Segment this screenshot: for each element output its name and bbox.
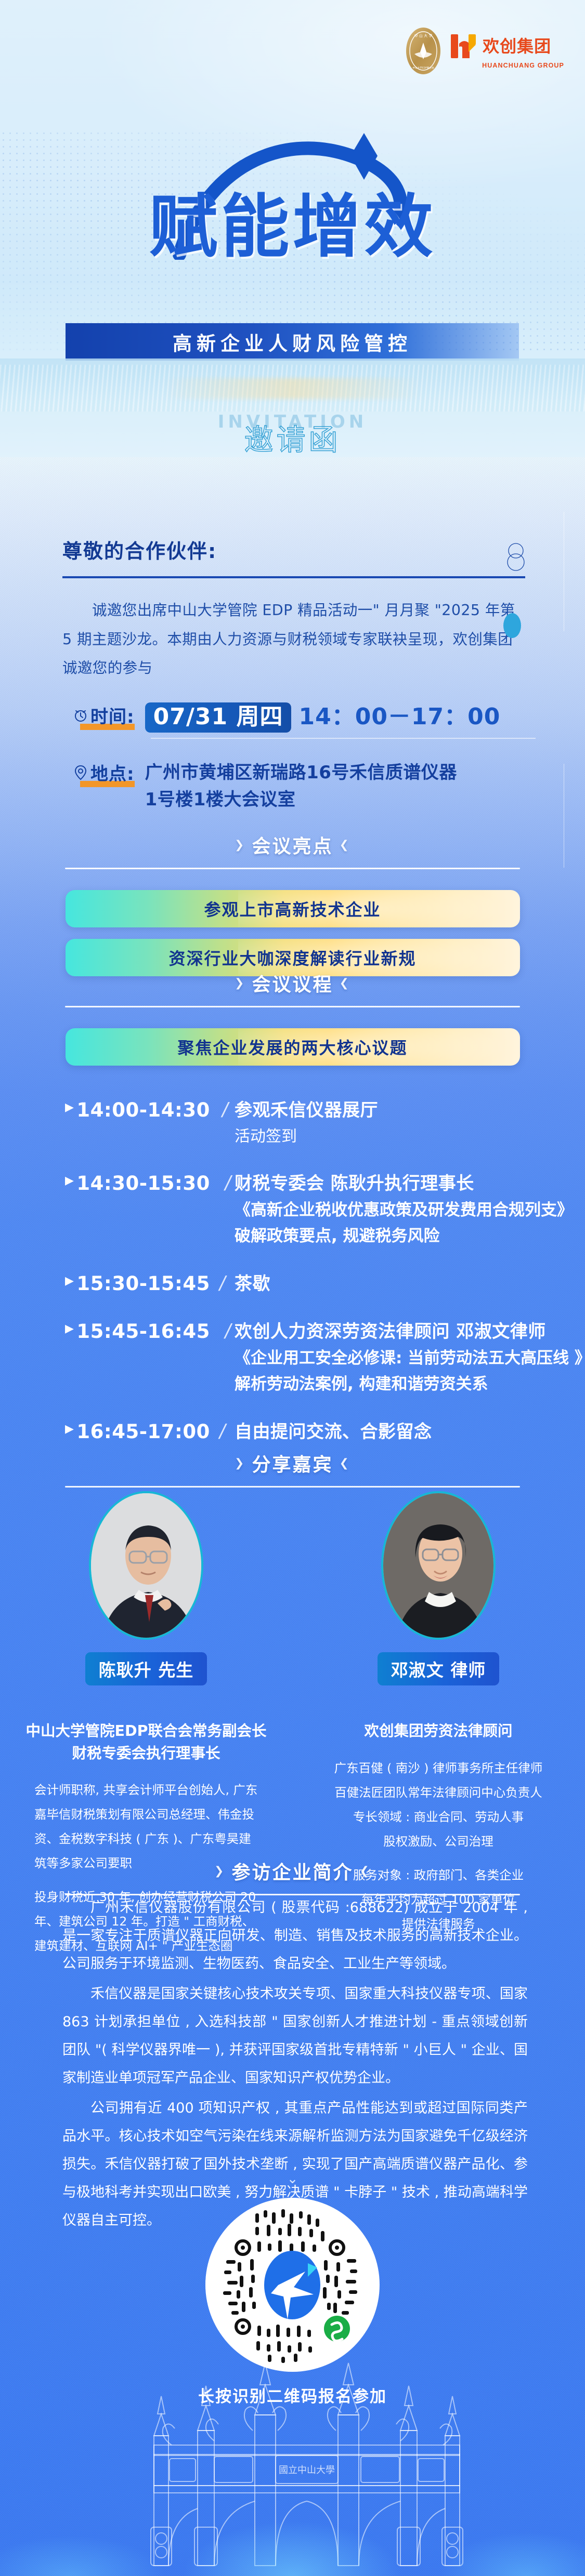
dot-decoration [503, 613, 521, 638]
gate-plaque-text: 國立中山大學 [279, 2465, 335, 2476]
triangle-right-icon: ▶ [65, 1320, 74, 1338]
agenda-row: ▶ 15:45-16:45 / 欢创人力资深劳资法律顾问 邓淑文律师 《企业用工… [65, 1320, 533, 1397]
speaker-name-badge: 邓淑文 律师 [378, 1652, 500, 1685]
greeting-block: 尊敬的合作伙伴: 诚邀您出席中山大学管院 EDP 精品活动一" 月月聚 "202… [62, 535, 525, 683]
agenda-time-text: 15:45-16:45 [76, 1320, 210, 1343]
place-line-2: 1号楼1楼大会议室 [145, 787, 457, 814]
agenda-main-text: 茶歇 [235, 1272, 270, 1296]
meta-divider [151, 738, 536, 739]
place-label: 地点: [90, 760, 135, 785]
decorative-side-line-top [564, 512, 564, 631]
highlight-item: 参观上市高新技术企业 [66, 890, 520, 927]
subtitle-text: 高新企业人财风险管控 [173, 328, 412, 356]
male-portrait-icon [91, 1493, 203, 1640]
svg-text:中 山 大 学: 中 山 大 学 [414, 33, 433, 38]
highlights-title-group: ❯ 会议亮点 ❮ [0, 831, 585, 858]
page-title: 赋能增效 [0, 171, 585, 271]
brand-name-cn: 欢创集团 [483, 38, 551, 55]
event-date-badge: 07/31 周四 [145, 702, 292, 733]
slash-separator-icon: / [217, 1420, 228, 1444]
slash-separator-icon: / [211, 1172, 233, 1249]
agenda-row: ▶ 16:45-17:00 / 自由提问交流、合影留念 [65, 1420, 533, 1444]
place-label-group: 地点: [73, 760, 135, 787]
company-paragraph: 广州禾信仪器股份有限公司 ( 股票代码 :688622) 成立于 2004 年 … [62, 1894, 528, 1978]
triangle-right-icon: ▶ [65, 1099, 74, 1117]
agenda-title: 会议议程 [252, 970, 333, 997]
company-title: 参访企业简介 [231, 1857, 353, 1884]
speaker-role: 中山大学管院EDP联合会常务副会长 财税专委会执行理事长 [25, 1698, 266, 1764]
invitation-label-cn: 邀请函 [0, 417, 585, 459]
speakers-divider [65, 1486, 520, 1488]
event-place-row: 地点: 广州市黄埔区新瑞路16号禾信质谱仪器 1号楼1楼大会议室 [73, 760, 541, 813]
agenda-time: ▶ 16:45-17:00 [65, 1420, 210, 1444]
agenda-main-text: 自由提问交流、合影留念 [235, 1420, 432, 1444]
left-arrow-icon: ❯ [235, 977, 245, 990]
huanchuang-h-mark-icon [450, 33, 479, 59]
avatar [381, 1491, 496, 1640]
speaker-bio-paragraph: 广东百健 ( 南沙 ) 律师事务所主任律师 百健法匠团队常年法律顾问中心负责人 … [327, 1756, 550, 1854]
agenda-time: ▶ 14:30-15:30 [65, 1172, 210, 1249]
agenda-content: 欢创人力资深劳资法律顾问 邓淑文律师 《企业用工安全必修课: 当前劳动法五大高压… [235, 1320, 585, 1397]
right-arrow-icon: ❮ [340, 839, 350, 852]
highlights-divider [65, 868, 520, 869]
greeting-paragraph: 诚邀您出席中山大学管院 EDP 精品活动一" 月月聚 "2025 年第 5 期主… [62, 596, 525, 683]
agenda-sub-text: 破解政策要点, 规避税务风险 [235, 1224, 573, 1249]
slash-separator-icon: / [217, 1272, 228, 1296]
agenda-sub-text: 活动签到 [235, 1125, 378, 1148]
highlight-item-label: 参观上市高新技术企业 [204, 897, 381, 921]
triangle-right-icon: ▶ [65, 1420, 74, 1438]
greeting-divider [62, 576, 525, 578]
sysu-seal-icon: 中 山 大 学 中山大学EDP联合会 [405, 27, 441, 75]
speakers-title-group: ❯ 分享嘉宾 ❮ [0, 1450, 585, 1477]
invitation-poster: 中 山 大 学 中山大学EDP联合会 欢创集团 HUANCHUANG GROUP… [0, 0, 585, 2576]
agenda-divider [65, 1006, 520, 1007]
company-section-header: ❯ 参访企业简介 ❮ [0, 1857, 585, 1895]
speakers-title: 分享嘉宾 [252, 1450, 333, 1477]
double-circle-decoration-icon [502, 542, 529, 572]
agenda-title-group: ❯ 会议议程 ❮ [0, 970, 585, 997]
highlights-section: ❯ 会议亮点 ❮ 参观上市高新技术企业 资深行业大咖深度解读行业新规 [0, 831, 585, 976]
agenda-content: 参观禾信仪器展厅 活动签到 [235, 1099, 378, 1148]
time-label: 时间: [90, 702, 135, 728]
highlight-item-label: 资深行业大咖深度解读行业新规 [168, 946, 416, 970]
event-time-range: 14：00－17：00 [298, 703, 500, 731]
right-arrow-icon: ❮ [340, 1457, 350, 1470]
qr-code[interactable] [205, 2198, 380, 2372]
agenda-row: ▶ 14:00-14:30 / 参观禾信仪器展厅 活动签到 [65, 1099, 533, 1148]
female-portrait-icon [383, 1493, 496, 1640]
highlights-title: 会议亮点 [252, 831, 333, 858]
speakers-section-header: ❯ 分享嘉宾 ❮ [0, 1450, 585, 1488]
agenda-time: ▶ 14:00-14:30 [65, 1099, 210, 1148]
left-arrow-icon: ❯ [235, 1457, 245, 1470]
mountain-silhouette-graphic [0, 2482, 585, 2576]
speaker-name-badge: 陈耿升 先生 [85, 1652, 207, 1685]
agenda-banner-label: 聚焦企业发展的两大核心议题 [177, 1035, 407, 1059]
left-arrow-icon: ❯ [235, 839, 245, 852]
agenda-row: ▶ 14:30-15:30 / 财税专委会 陈耿升执行理事长 《高新企业税收优惠… [65, 1172, 533, 1249]
svg-text:中山大学EDP联合会: 中山大学EDP联合会 [412, 66, 434, 70]
agenda-banner: 聚焦企业发展的两大核心议题 [66, 1028, 520, 1066]
time-label-group: 时间: [73, 702, 135, 730]
event-time-row: 时间: 07/31 周四 14：00－17：00 [73, 702, 541, 733]
agenda-content: 财税专委会 陈耿升执行理事长 《高新企业税收优惠政策及研发费用合规列支》 破解政… [235, 1172, 573, 1249]
agenda-section-header: ❯ 会议议程 ❮ 聚焦企业发展的两大核心议题 [0, 970, 585, 1066]
agenda-sub-text: 解析劳动法案例, 构建和谐劳资关系 [235, 1372, 585, 1397]
agenda-content: 茶歇 [235, 1272, 270, 1296]
wechat-miniprogram-qr-code-icon[interactable] [205, 2198, 380, 2372]
right-arrow-icon: ❮ [340, 977, 350, 990]
company-paragraph: 禾信仪器是国家关键核心技术攻关专项、国家重大科技仪器专项、国家 863 计划承担… [62, 1980, 528, 2092]
scroll-down-chevron-icon: ⌄ [0, 2171, 585, 2187]
avatar [89, 1491, 203, 1640]
agenda-time-text: 15:30-15:45 [76, 1272, 210, 1295]
alarm-clock-icon [73, 708, 88, 723]
footer-graphic: 國立中山大學 [0, 2353, 585, 2576]
agenda-main-text: 欢创人力资深劳资法律顾问 邓淑文律师 [235, 1320, 585, 1344]
agenda-list: ▶ 14:00-14:30 / 参观禾信仪器展厅 活动签到 ▶ 14:30-15… [65, 1099, 533, 1468]
subtitle-bar: 高新企业人财风险管控 [66, 323, 519, 361]
location-pin-icon [73, 764, 88, 781]
company-title-group: ❯ 参访企业简介 ❮ [0, 1857, 585, 1884]
agenda-time-text: 14:00-14:30 [76, 1099, 210, 1121]
greeting-salutation: 尊敬的合作伙伴: [62, 535, 525, 564]
agenda-time-text: 14:30-15:30 [76, 1172, 210, 1194]
agenda-time: ▶ 15:45-16:45 [65, 1320, 210, 1397]
agenda-main-text: 财税专委会 陈耿升执行理事长 [235, 1172, 573, 1196]
place-line-1: 广州市黄埔区新瑞路16号禾信质谱仪器 [145, 760, 457, 787]
logo-group: 中 山 大 学 中山大学EDP联合会 欢创集团 HUANCHUANG GROUP [405, 27, 564, 75]
left-arrow-icon: ❯ [214, 1865, 225, 1878]
triangle-right-icon: ▶ [65, 1272, 74, 1290]
agenda-sub-text: 《高新企业税收优惠政策及研发费用合规列支》 [235, 1198, 573, 1223]
agenda-time-text: 16:45-17:00 [76, 1420, 210, 1443]
right-arrow-icon: ❮ [360, 1865, 371, 1878]
slash-separator-icon: / [214, 1099, 230, 1148]
slash-separator-icon: / [211, 1320, 233, 1397]
triangle-right-icon: ▶ [65, 1172, 74, 1190]
agenda-time: ▶ 15:30-15:45 [65, 1272, 210, 1296]
agenda-row: ▶ 15:30-15:45 / 茶歇 [65, 1272, 533, 1296]
agenda-content: 自由提问交流、合影留念 [235, 1420, 432, 1444]
event-meta-block: 时间: 07/31 周四 14：00－17：00 地点: 广州市黄埔区新瑞路16… [73, 702, 541, 814]
speaker-role: 欢创集团劳资法律顾问 [364, 1698, 512, 1743]
brand-name-en: HUANCHUANG GROUP [482, 62, 564, 69]
agenda-main-text: 参观禾信仪器展厅 [235, 1099, 378, 1123]
agenda-sub-text: 《企业用工安全必修课: 当前劳动法五大高压线 》 [235, 1346, 585, 1371]
